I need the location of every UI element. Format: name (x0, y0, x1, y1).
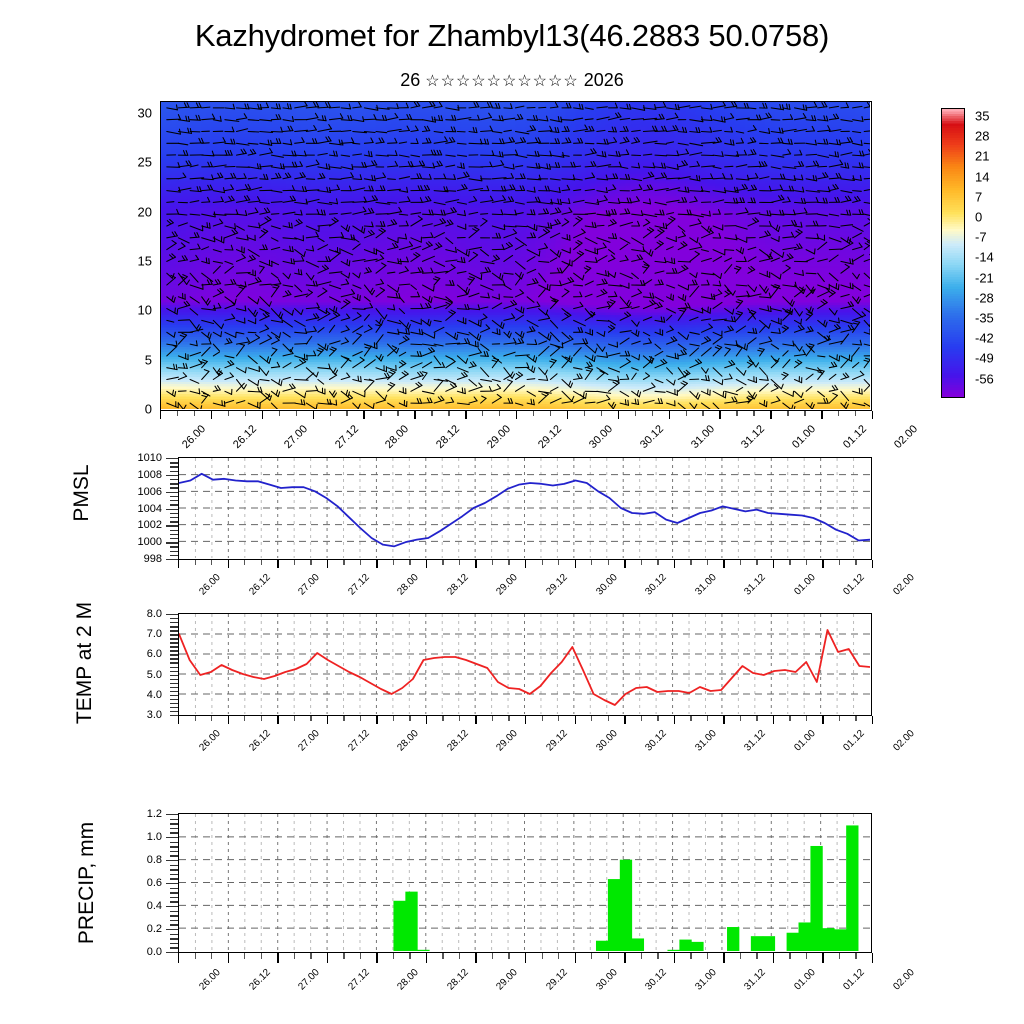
x-major-tick (228, 560, 229, 568)
x-tick-label: 26.12 (231, 423, 259, 451)
x-minor-tick (550, 411, 551, 416)
y-tick (170, 934, 178, 935)
x-minor-tick (838, 411, 839, 416)
x-major-tick (327, 716, 328, 724)
x-major-tick (822, 953, 823, 963)
y-tick-label: 1.2 (147, 808, 162, 820)
x-minor-tick (690, 716, 691, 721)
y-tick (170, 471, 178, 472)
pmsl-axis-title: PMSL (70, 433, 96, 553)
x-minor-tick (601, 411, 602, 416)
x-tick-label: 27.12 (346, 728, 371, 753)
x-minor-tick (641, 560, 642, 565)
x-major-tick (376, 716, 377, 724)
y-tick-label: 15 (138, 253, 152, 268)
y-tick (170, 897, 178, 898)
y-tick-label: 5 (145, 352, 152, 367)
x-minor-tick (442, 953, 443, 959)
y-tick-label: 1004 (138, 503, 162, 515)
x-minor-tick (652, 411, 653, 416)
y-tick (170, 846, 178, 847)
x-major-tick (624, 953, 625, 963)
y-tick (170, 650, 178, 651)
y-tick-label: 30 (138, 105, 152, 120)
x-minor-tick (294, 560, 295, 565)
x-major-tick (277, 953, 278, 963)
x-tick-label: 28.12 (445, 967, 470, 992)
y-tick (170, 479, 178, 480)
x-tick-label: 02.00 (892, 423, 920, 451)
x-minor-tick (195, 953, 196, 959)
x-minor-tick (195, 716, 196, 721)
precip-x-ticks (178, 953, 872, 963)
subtitle-date: 26 ☆☆☆☆☆☆☆☆☆☆ 2026 (0, 70, 1024, 91)
x-minor-tick (855, 560, 856, 565)
y-tick-label: 8.0 (147, 608, 162, 620)
x-minor-tick (448, 411, 449, 416)
temp-x-axis-labels: 26.0026.1227.0027.1228.0028.1229.0029.12… (178, 726, 872, 760)
y-tick (170, 646, 178, 647)
x-minor-tick (310, 716, 311, 721)
colorbar-tick-label: -14 (975, 250, 994, 265)
y-tick-label: 3.0 (147, 709, 162, 721)
y-tick (166, 492, 178, 493)
x-tick-label: 29.12 (544, 967, 569, 992)
subtitle-day: 26 (400, 70, 420, 90)
x-major-tick (414, 411, 415, 419)
x-minor-tick (702, 411, 703, 416)
x-tick-label: 28.00 (396, 967, 421, 992)
y-tick-label: 25 (138, 155, 152, 170)
x-minor-tick (261, 716, 262, 721)
x-major-tick (669, 411, 670, 419)
y-tick (166, 509, 178, 510)
x-tick-label: 01.12 (842, 967, 867, 992)
cross-section-plot (160, 101, 872, 411)
x-minor-tick (442, 560, 443, 565)
x-minor-tick (855, 953, 856, 959)
x-tick-label: 27.12 (346, 967, 371, 992)
x-minor-tick (855, 716, 856, 721)
y-tick (170, 699, 178, 700)
colorbar-tick-label: -7 (975, 230, 987, 245)
y-tick (170, 832, 178, 833)
x-major-tick (327, 560, 328, 568)
cross-section-field (161, 102, 870, 409)
x-tick-label: 01.00 (792, 572, 817, 597)
pmsl-x-axis-labels: 26.0026.1227.0027.1228.0028.1229.0029.12… (178, 570, 872, 604)
x-minor-tick (542, 560, 543, 565)
y-tick-label: 1.0 (147, 831, 162, 843)
x-major-tick (575, 716, 576, 724)
y-tick (170, 517, 178, 518)
y-tick (166, 458, 178, 459)
precip-y-minor-ticks (166, 814, 178, 952)
x-tick-label: 29.12 (544, 572, 569, 597)
x-tick-label: 30.00 (587, 423, 615, 451)
x-major-tick (228, 716, 229, 724)
x-minor-tick (756, 953, 757, 959)
x-minor-tick (635, 411, 636, 416)
x-minor-tick (409, 953, 410, 959)
x-minor-tick (753, 411, 754, 416)
y-tick-label: 1002 (138, 519, 162, 531)
x-major-tick (822, 560, 823, 568)
x-major-tick (723, 953, 724, 963)
y-tick-label: 6.0 (147, 648, 162, 660)
x-major-tick (525, 716, 526, 724)
y-tick (170, 695, 178, 696)
x-minor-tick (804, 411, 805, 416)
y-tick (170, 828, 178, 829)
x-tick-label: 29.00 (495, 967, 520, 992)
y-tick (166, 906, 178, 907)
y-tick (170, 555, 178, 556)
x-tick-label: 01.12 (842, 728, 867, 753)
x-tick-label: 27.00 (296, 728, 321, 753)
y-tick (170, 634, 178, 635)
x-major-tick (575, 560, 576, 568)
x-tick-label: 28.00 (396, 728, 421, 753)
x-tick-label: 29.00 (495, 572, 520, 597)
y-tick (170, 691, 178, 692)
y-tick-label: 1010 (138, 452, 162, 464)
y-tick (170, 466, 178, 467)
x-tick-label: 27.00 (296, 967, 321, 992)
x-tick-label: 01.00 (792, 967, 817, 992)
x-minor-tick (397, 411, 398, 416)
x-minor-tick (360, 953, 361, 959)
temp-axis-title: TEMP at 2 M (73, 583, 99, 743)
x-minor-tick (542, 716, 543, 721)
x-major-tick (674, 716, 675, 724)
x-minor-tick (608, 953, 609, 959)
y-tick (170, 626, 178, 627)
x-tick-label: 28.12 (445, 728, 470, 753)
x-tick-label: 27.00 (282, 423, 310, 451)
x-minor-tick (736, 411, 737, 416)
x-minor-tick (343, 716, 344, 721)
x-major-tick (575, 953, 576, 963)
y-tick (170, 915, 178, 916)
x-minor-tick (360, 560, 361, 565)
x-minor-tick (707, 953, 708, 959)
x-major-tick (773, 953, 774, 963)
x-major-tick (624, 716, 625, 724)
y-tick-label: 20 (138, 204, 152, 219)
y-tick (170, 638, 178, 639)
x-major-tick (723, 716, 724, 724)
y-tick-label: 0.6 (147, 877, 162, 889)
y-tick (170, 703, 178, 704)
x-tick-label: 26.00 (180, 423, 208, 451)
x-major-tick (465, 411, 466, 419)
x-tick-label: 26.12 (247, 728, 272, 753)
x-major-tick (773, 716, 774, 724)
x-minor-tick (261, 953, 262, 959)
y-tick-label: 1008 (138, 469, 162, 481)
y-tick (170, 622, 178, 623)
temp-plot (178, 613, 872, 716)
x-tick-label: 29.00 (495, 728, 520, 753)
y-tick (170, 521, 178, 522)
y-tick (166, 525, 178, 526)
y-tick (170, 534, 178, 535)
x-minor-tick (787, 411, 788, 416)
x-minor-tick (839, 716, 840, 721)
colorbar-tick-label: 21 (975, 149, 989, 164)
colorbar-tick-label: -35 (975, 311, 994, 326)
y-tick (166, 814, 178, 815)
x-major-tick (376, 560, 377, 568)
pmsl-series (179, 458, 870, 558)
x-tick-label: 30.12 (643, 572, 668, 597)
x-minor-tick (310, 953, 311, 959)
x-minor-tick (409, 560, 410, 565)
y-tick (170, 546, 178, 547)
x-minor-tick (508, 560, 509, 565)
temp-y-minor-ticks (166, 614, 178, 715)
x-minor-tick (492, 716, 493, 721)
y-tick (170, 683, 178, 684)
x-major-tick (872, 560, 873, 568)
x-tick-label: 02.00 (891, 728, 916, 753)
y-tick-label: 5.0 (147, 669, 162, 681)
y-tick (166, 952, 178, 953)
y-tick (170, 715, 178, 716)
y-tick (170, 679, 178, 680)
y-tick (170, 671, 178, 672)
x-tick-label: 02.00 (891, 572, 916, 597)
x-minor-tick (296, 411, 297, 416)
y-tick-label: 0.8 (147, 854, 162, 866)
x-tick-label: 27.12 (346, 572, 371, 597)
x-minor-tick (346, 411, 347, 416)
y-tick (170, 483, 178, 484)
x-major-tick (624, 560, 625, 568)
x-minor-tick (310, 560, 311, 565)
y-tick-label: 0.0 (147, 946, 162, 958)
x-minor-tick (492, 953, 493, 959)
x-minor-tick (855, 411, 856, 416)
y-tick (170, 658, 178, 659)
y-tick (166, 614, 178, 615)
y-tick (170, 504, 178, 505)
x-major-tick (475, 560, 476, 568)
y-tick (166, 837, 178, 838)
x-minor-tick (740, 560, 741, 565)
y-tick (170, 878, 178, 879)
y-tick (170, 530, 178, 531)
x-minor-tick (393, 716, 394, 721)
x-tick-label: 31.00 (689, 423, 717, 451)
x-minor-tick (806, 953, 807, 959)
x-major-tick (525, 953, 526, 963)
x-major-tick (567, 411, 568, 419)
precip-plot (178, 813, 872, 953)
y-tick (170, 654, 178, 655)
y-tick (170, 869, 178, 870)
y-tick (170, 487, 178, 488)
x-tick-label: 01.12 (842, 572, 867, 597)
x-minor-tick (789, 560, 790, 565)
y-tick (170, 901, 178, 902)
y-tick (170, 842, 178, 843)
x-minor-tick (839, 953, 840, 959)
x-minor-tick (591, 560, 592, 565)
x-tick-label: 01.00 (790, 423, 818, 451)
x-minor-tick (211, 716, 212, 721)
x-minor-tick (641, 953, 642, 959)
x-major-tick (426, 560, 427, 568)
x-minor-tick (431, 411, 432, 416)
x-major-tick (376, 953, 377, 963)
x-minor-tick (789, 716, 790, 721)
y-tick (166, 559, 178, 560)
temp-canvas (179, 614, 871, 715)
x-minor-tick (409, 716, 410, 721)
x-tick-label: 31.12 (743, 572, 768, 597)
x-minor-tick (657, 560, 658, 565)
x-major-tick (178, 560, 179, 568)
x-minor-tick (459, 716, 460, 721)
y-tick (166, 860, 178, 861)
x-minor-tick (492, 560, 493, 565)
y-tick (170, 707, 178, 708)
x-major-tick (475, 953, 476, 963)
x-minor-tick (657, 716, 658, 721)
x-tick-label: 26.12 (247, 572, 272, 597)
y-tick (166, 475, 178, 476)
x-tick-label: 29.12 (544, 728, 569, 753)
colorbar-tick-label: -21 (975, 270, 994, 285)
x-major-tick (821, 411, 822, 419)
precip-x-axis-labels: 26.0026.1227.0027.1228.0028.1229.0029.12… (178, 965, 872, 999)
y-tick (170, 675, 178, 676)
x-major-tick (773, 560, 774, 568)
x-minor-tick (442, 716, 443, 721)
x-major-tick (277, 716, 278, 724)
x-minor-tick (177, 411, 178, 416)
x-minor-tick (343, 560, 344, 565)
x-major-tick (178, 953, 179, 963)
y-tick-label: 7.0 (147, 628, 162, 640)
x-major-tick (160, 411, 161, 419)
y-tick (170, 662, 178, 663)
colorbar-tick-label: -56 (975, 371, 994, 386)
y-tick (166, 542, 178, 543)
cross-section-canvas (161, 102, 871, 410)
colorbar-tick-label: 7 (975, 189, 982, 204)
x-tick-label: 30.12 (643, 728, 668, 753)
x-minor-tick (360, 716, 361, 721)
x-major-tick (178, 716, 179, 724)
x-minor-tick (244, 953, 245, 959)
x-minor-tick (508, 716, 509, 721)
x-minor-tick (591, 716, 592, 721)
y-tick (170, 642, 178, 643)
x-minor-tick (459, 953, 460, 959)
x-minor-tick (608, 716, 609, 721)
y-tick-label: 1006 (138, 486, 162, 498)
x-minor-tick (393, 953, 394, 959)
pmsl-y-axis-labels: 998100010021004100610081010 (118, 458, 162, 559)
colorbar-tick-label: -42 (975, 331, 994, 346)
x-minor-tick (584, 411, 585, 416)
y-tick (170, 943, 178, 944)
x-major-tick (363, 411, 364, 419)
x-tick-label: 31.12 (739, 423, 767, 451)
x-minor-tick (558, 716, 559, 721)
colorbar-tick-labels: 3528211470-7-14-21-28-35-42-49-56 (975, 108, 1023, 398)
x-tick-label: 31.12 (743, 728, 768, 753)
x-minor-tick (508, 953, 509, 959)
y-tick (166, 929, 178, 930)
x-minor-tick (228, 411, 229, 416)
temp-y-axis-labels: 3.04.05.06.07.08.0 (118, 614, 162, 715)
y-tick (170, 851, 178, 852)
y-tick (170, 920, 178, 921)
temp-series (179, 614, 870, 714)
x-minor-tick (591, 953, 592, 959)
colorbar-tick-label: 0 (975, 210, 982, 225)
x-minor-tick (686, 411, 687, 416)
y-tick-label: 0.2 (147, 923, 162, 935)
colorbar-gradient (942, 109, 964, 397)
x-major-tick (313, 411, 314, 419)
x-major-tick (426, 953, 427, 963)
subtitle-year: 2026 (584, 70, 624, 90)
x-tick-label: 28.00 (396, 572, 421, 597)
x-minor-tick (343, 953, 344, 959)
x-major-tick (719, 411, 720, 419)
colorbar-tick-label: -49 (975, 351, 994, 366)
colorbar-tick-label: 28 (975, 129, 989, 144)
x-tick-label: 02.00 (891, 967, 916, 992)
x-major-tick (618, 411, 619, 419)
x-major-tick (872, 716, 873, 724)
y-tick-label: 0.4 (147, 900, 162, 912)
y-tick (170, 938, 178, 939)
x-minor-tick (261, 560, 262, 565)
precip-series (179, 814, 870, 951)
x-major-tick (872, 953, 873, 963)
x-minor-tick (393, 560, 394, 565)
y-tick (170, 538, 178, 539)
x-major-tick (525, 560, 526, 568)
x-tick-label: 30.12 (643, 967, 668, 992)
x-tick-label: 27.00 (296, 572, 321, 597)
y-tick-label: 1000 (138, 536, 162, 548)
y-tick-label: 4.0 (147, 689, 162, 701)
pmsl-y-minor-ticks (166, 458, 178, 559)
x-minor-tick (330, 411, 331, 416)
x-major-tick (277, 560, 278, 568)
x-minor-tick (294, 953, 295, 959)
y-tick (170, 947, 178, 948)
x-tick-label: 30.00 (594, 967, 619, 992)
y-tick (170, 924, 178, 925)
x-minor-tick (195, 560, 196, 565)
x-minor-tick (482, 411, 483, 416)
x-minor-tick (756, 560, 757, 565)
x-tick-label: 01.12 (841, 423, 869, 451)
x-tick-label: 31.00 (693, 967, 718, 992)
temp-x-ticks (178, 716, 872, 724)
y-tick (166, 883, 178, 884)
x-minor-tick (558, 560, 559, 565)
precip-canvas (179, 814, 871, 952)
